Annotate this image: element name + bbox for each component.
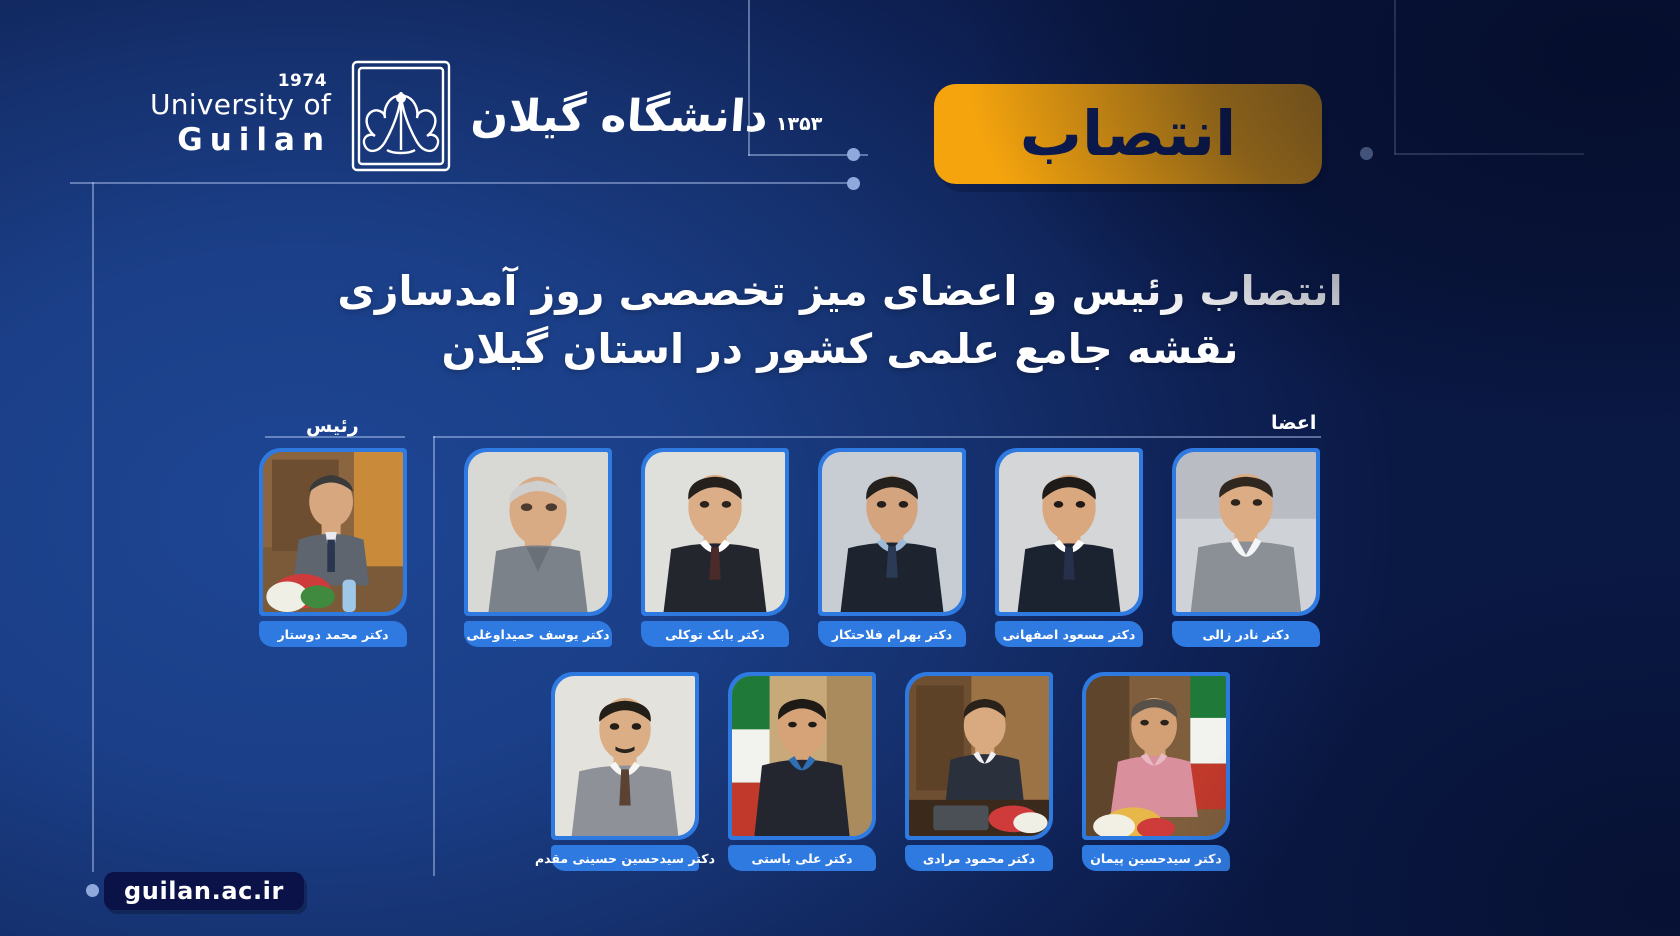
- person-name-member-6: دکتر سیدحسین حسینی مقدم: [551, 845, 699, 871]
- person-name-member-4: دکتر مسعود اصفهانی: [995, 621, 1143, 647]
- person-name-member-2: دکتر بابک توکلی: [641, 621, 789, 647]
- logo-university-word: University of: [150, 91, 331, 119]
- person-name-chair: دکتر محمد دوستار: [259, 621, 407, 647]
- photo-frame: [641, 448, 789, 616]
- person-card-member-9: دکتر سیدحسین پیمان: [1082, 672, 1230, 871]
- page-title: انتصاب رئیس و اعضای میز تخصصی روز آمدساز…: [0, 262, 1680, 378]
- logo-year-gregorian: 1974: [278, 73, 327, 90]
- photo-frame: [905, 672, 1053, 840]
- deco-dot-left-upper: [847, 148, 860, 161]
- appointment-badge-label: انتصاب: [1020, 103, 1237, 165]
- deco-members-bracket-horizontal: [433, 436, 1321, 438]
- guilan-university-emblem-icon: [349, 58, 453, 174]
- logo-guilan-word: Guilan: [177, 125, 331, 156]
- person-card-member-1: دکتر یوسف حمیداوغلی: [464, 448, 612, 647]
- university-logo: 1974 University of Guilan ۱۳۵۳ دانشگاه گ…: [150, 58, 822, 174]
- photo-frame: [995, 448, 1143, 616]
- poster-canvas: 1974 University of Guilan ۱۳۵۳ دانشگاه گ…: [0, 0, 1680, 936]
- portrait-photo-member-7: [732, 676, 872, 836]
- deco-line-top-left-horizontal: [70, 182, 860, 184]
- deco-dot-right: [1360, 147, 1373, 160]
- person-card-member-5: دکتر نادر زالی: [1172, 448, 1320, 647]
- appointment-badge: انتصاب: [934, 84, 1322, 184]
- portrait-photo-member-6: [555, 676, 695, 836]
- website-url: guilan.ac.ir: [124, 877, 284, 905]
- photo-frame: [551, 672, 699, 840]
- photo-frame: [728, 672, 876, 840]
- website-badge[interactable]: guilan.ac.ir: [104, 872, 304, 910]
- section-label-members: اعضا: [1271, 412, 1316, 434]
- person-card-member-8: دکتر محمود مرادی: [905, 672, 1053, 871]
- logo-english-text: 1974 University of Guilan: [150, 77, 331, 156]
- photo-frame: [818, 448, 966, 616]
- portrait-photo-member-5: [1176, 452, 1316, 612]
- person-name-member-5: دکتر نادر زالی: [1172, 621, 1320, 647]
- photo-frame: [1082, 672, 1230, 840]
- person-name-member-3: دکتر بهرام فلاحتکار: [818, 621, 966, 647]
- deco-dot-bottom-left: [86, 884, 99, 897]
- portrait-photo-member-1: [468, 452, 608, 612]
- portrait-photo-member-4: [999, 452, 1139, 612]
- person-name-member-7: دکتر علی باستی: [728, 845, 876, 871]
- portrait-photo-member-2: [645, 452, 785, 612]
- photo-frame: [464, 448, 612, 616]
- logo-year-persian: ۱۳۵۳: [776, 113, 822, 135]
- photo-frame: [1172, 448, 1320, 616]
- person-card-member-3: دکتر بهرام فلاحتکار: [818, 448, 966, 647]
- person-name-member-9: دکتر سیدحسین پیمان: [1082, 845, 1230, 871]
- person-name-member-1: دکتر یوسف حمیداوغلی: [464, 621, 612, 647]
- section-label-chair: رئیس: [306, 415, 359, 437]
- deco-dot-left-lower: [847, 177, 860, 190]
- portrait-photo-chair: [263, 452, 403, 612]
- logo-persian-text: ۱۳۵۳ دانشگاه گیلان: [471, 91, 822, 142]
- deco-line-right-vertical: [1394, 0, 1396, 154]
- person-card-member-7: دکتر علی باستی: [728, 672, 876, 871]
- person-card-chair: دکتر محمد دوستار: [259, 448, 407, 647]
- person-card-member-6: دکتر سیدحسین حسینی مقدم: [551, 672, 699, 871]
- portrait-photo-member-3: [822, 452, 962, 612]
- portrait-photo-member-9: [1086, 676, 1226, 836]
- person-card-member-4: دکتر مسعود اصفهانی: [995, 448, 1143, 647]
- person-card-member-2: دکتر بابک توکلی: [641, 448, 789, 647]
- page-title-line1: انتصاب رئیس و اعضای میز تخصصی روز آمدساز…: [0, 262, 1680, 320]
- photo-frame: [259, 448, 407, 616]
- logo-persian-name: دانشگاه گیلان: [469, 91, 769, 142]
- page-title-line2: نقشه جامع علمی کشور در استان گیلان: [0, 320, 1680, 378]
- deco-members-bracket-vertical: [433, 436, 435, 876]
- deco-line-right-horizontal: [1394, 153, 1584, 155]
- portrait-photo-member-8: [909, 676, 1049, 836]
- person-name-member-8: دکتر محمود مرادی: [905, 845, 1053, 871]
